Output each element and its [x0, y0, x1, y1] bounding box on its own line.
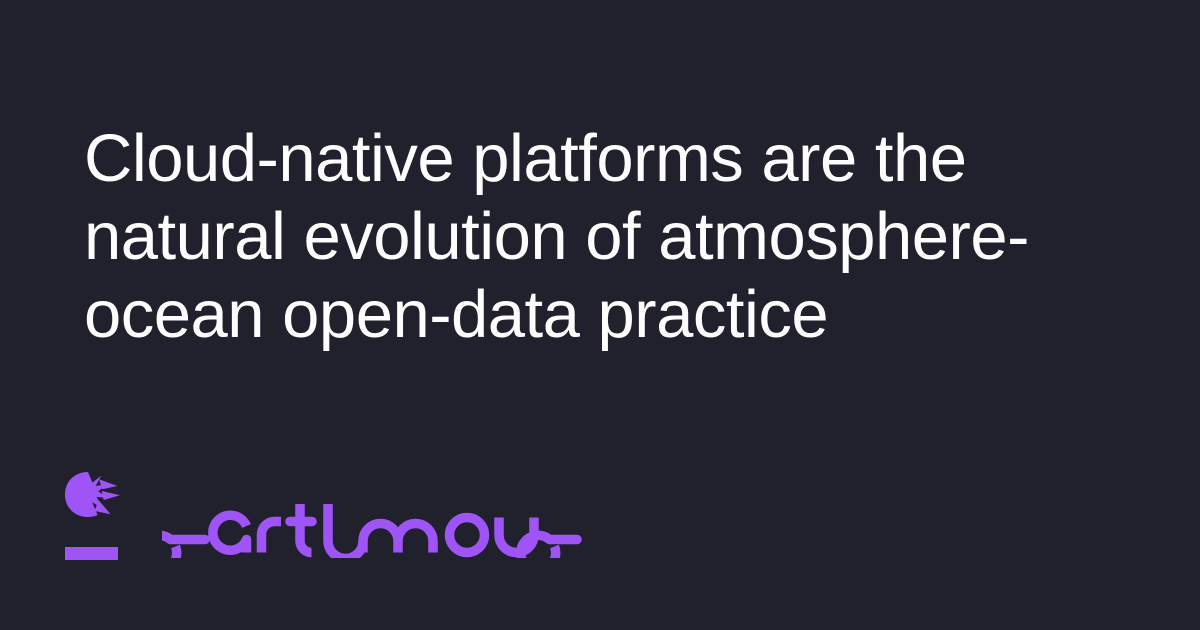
- earthmover-wordmark: earthmover: [162, 496, 582, 558]
- brand-logo-lockup: earthmover: [62, 466, 582, 566]
- earthmover-bucket-wheel-icon: [62, 466, 124, 566]
- page-title: Cloud-native platforms are the natural e…: [84, 120, 1114, 354]
- og-card: Cloud-native platforms are the natural e…: [0, 0, 1200, 630]
